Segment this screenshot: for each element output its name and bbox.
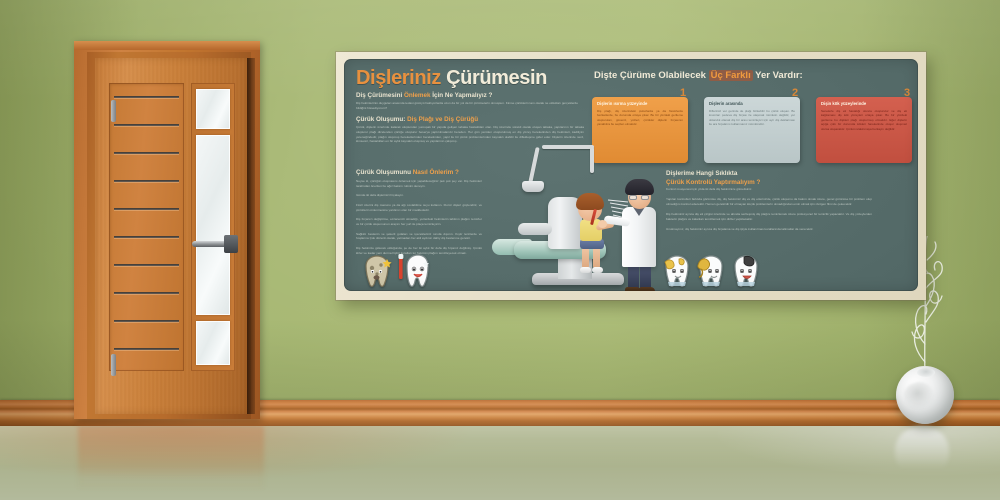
tooth-decay-stage-1-icon <box>662 255 692 289</box>
left-heading-1-pre: Diş Çürümesini <box>356 92 404 99</box>
card-1-heading: Dişlerin ısırma yüzeyinde <box>597 101 683 106</box>
poster-content: Dişleriniz Çürümesin Dişte Çürüme Olabil… <box>344 59 918 291</box>
dentist-shoe-right <box>639 287 655 291</box>
dentist-lab-coat <box>622 207 656 267</box>
door-edge-shadow <box>247 58 255 414</box>
door-lock-plate[interactable] <box>224 235 238 253</box>
tooth-decay-stage-2-icon <box>696 255 726 289</box>
child-shoe-right <box>592 267 603 273</box>
card-3-body: Senelerle diş eti hastalığı olunca oluşt… <box>821 109 907 132</box>
left-heading-2: Çürük Oluşumu: Diş Plağı ve Diş Çürüğü <box>356 116 478 123</box>
dentist-hair <box>625 179 654 195</box>
left-heading-1-highlight: Önlemek <box>404 92 431 99</box>
card-3-heading: Dişin kök yüzeylerinde <box>821 101 907 106</box>
healthy-tooth-with-toothbrush-icon <box>397 253 429 289</box>
dental-lamp-head <box>522 181 544 192</box>
child-shoe-left <box>580 267 591 273</box>
left-heading-2-pre: Çürük Oluşumu: <box>356 116 407 123</box>
child-leg-right <box>593 247 600 269</box>
right-title-highlight: Üç Farklı <box>709 70 753 81</box>
decay-location-card-3[interactable]: Dişin kök yüzeylerinde Senelerle diş eti… <box>816 97 912 163</box>
left-heading-3: Çürük Oluşumunu Nasıl Önlerim ? <box>356 169 459 176</box>
poster-title-word2: Çürümesin <box>446 67 547 89</box>
vase-rim <box>917 368 935 377</box>
dentist-glasses-icon <box>628 195 651 200</box>
door-glass-column <box>191 83 235 371</box>
poster-title: Dişleriniz Çürümesin <box>356 67 547 90</box>
door-hinge-top <box>111 100 116 122</box>
right-title-pre: Dişte Çürüme Olabilecek <box>594 70 709 81</box>
decayed-tooth-character-icon <box>362 255 392 289</box>
right-paragraph: Kontrol muayenesi için yılda iki defa di… <box>666 187 872 231</box>
left-heading-1-post: İçin Ne Yapmalıyız ? <box>431 92 493 99</box>
dental-health-poster[interactable]: Dişleriniz Çürümesin Dişte Çürüme Olabil… <box>336 52 926 300</box>
door-slat-panel <box>109 83 184 371</box>
room-scene: Dişleriniz Çürümesin Dişte Çürüme Olabil… <box>0 0 1000 500</box>
child-leg-left <box>582 247 589 269</box>
left-heading-3-highlight: Nasıl Önlerim ? <box>413 169 459 176</box>
card-2-heading: Dişlerin arasında <box>709 101 795 106</box>
interior-door[interactable] <box>74 41 260 419</box>
left-paragraph-2: Çürük, dişlerin üzerinde kalarak oluştur… <box>356 125 584 144</box>
door-glass-top <box>196 89 230 129</box>
door-frame-top <box>74 41 260 50</box>
left-paragraph-3: Neyse ki, çürüğün oluşmasını önlemek içi… <box>356 179 482 256</box>
card-1-body: Diş plağı, diş üzerindeki çukurlarda ya … <box>597 109 683 127</box>
door-hinge-bottom <box>111 354 116 376</box>
left-heading-2-highlight: Diş Plağı ve Diş Çürüğü <box>407 116 478 123</box>
left-heading-3-pre: Çürük Oluşumunu <box>356 169 413 176</box>
poster-title-word1: Dişleriniz <box>356 67 441 89</box>
card-2-body: Diflerinizi ver gerinde de plağı birikeb… <box>709 109 795 127</box>
tooth-decay-stage-3-icon <box>730 255 762 289</box>
right-heading-line1: Dişlerime Hangi Sıklıkta <box>666 169 760 178</box>
lamp-arm-drop <box>528 147 539 183</box>
right-title-post: Yer Vardır: <box>753 70 803 81</box>
dentist-hand <box>598 220 607 228</box>
vase-body-shading <box>904 382 934 410</box>
lamp-arm-vertical <box>590 147 594 173</box>
dental-chair-armrest <box>518 223 552 235</box>
dentist-scene-illustration <box>492 145 670 291</box>
door-glass-middle <box>196 135 230 315</box>
left-heading-1: Diş Çürümesini Önlemek İçin Ne Yapmalıyı… <box>356 92 492 99</box>
door-glass-bottom <box>196 321 230 365</box>
right-heading: Dişlerime Hangi Sıklıkta Çürük Kontrolü … <box>666 169 760 188</box>
left-paragraph-1: Diş hekimlerinin duyguları arasında teda… <box>356 101 578 111</box>
door-slats <box>112 86 181 368</box>
floor-sheen <box>0 426 1000 500</box>
decay-location-card-2[interactable]: Dişlerin arasında Diflerinizi ver gerind… <box>704 97 800 163</box>
poster-right-title: Dişte Çürüme Olabilecek Üç Farklı Yer Va… <box>594 70 803 81</box>
child-hair <box>576 193 604 210</box>
lamp-arm-horizontal <box>542 145 594 149</box>
